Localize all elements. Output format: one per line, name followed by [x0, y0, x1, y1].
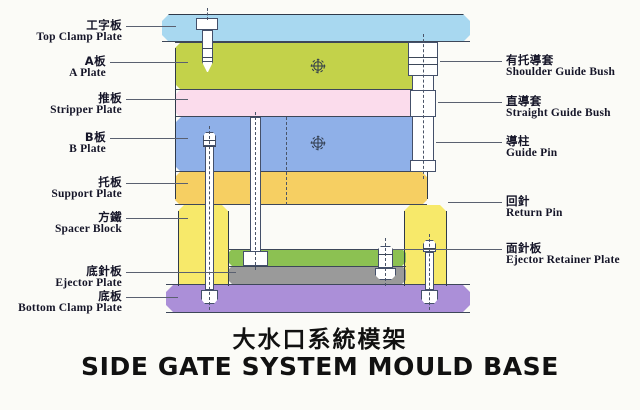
label-a-plate-cn: A板: [0, 56, 106, 68]
edge-spacer-left-outer: [178, 211, 179, 286]
edge-ejector-plate-bottom: [228, 284, 406, 285]
label-straight-guide-bush-en: Straight Guide Bush: [506, 108, 611, 120]
label-spacer-block-en: Spacer Block: [0, 224, 122, 236]
label-guide-pin-cn: 導柱: [506, 136, 557, 148]
leader-guide-pin: [436, 142, 502, 143]
leader-shoulder-guide-bush: [440, 61, 502, 62]
label-shoulder-guide-bush-cn: 有托導套: [506, 55, 615, 67]
part-stripper-plate: [175, 90, 427, 117]
leader-stripper-plate: [126, 99, 188, 100]
label-support-plate-en: Support Plate: [0, 189, 122, 201]
label-a-plate-en: A Plate: [0, 68, 106, 80]
label-stripper-plate-cn: 推板: [0, 93, 122, 105]
label-top-clamp-plate-cn: 工字板: [0, 20, 122, 32]
label-bottom-clamp-plate-en: Bottom Clamp Plate: [0, 303, 122, 315]
ejector-retainer-screw-seam: [378, 254, 393, 255]
return-pin-left-seam-2: [203, 146, 216, 147]
label-stripper-plate: 推板 Stripper Plate: [0, 93, 122, 116]
label-ejector-retainer-plate-cn: 面針板: [506, 243, 620, 255]
label-ejector-retainer-plate-en: Ejector Retainer Plate: [506, 255, 620, 267]
return-pin-left-centerline: [209, 126, 210, 310]
label-spacer-block: 方鐵 Spacer Block: [0, 212, 122, 235]
mould-base-diagram: 工字板 Top Clamp Plate A板 A Plate 推板 Stripp…: [0, 0, 640, 410]
leader-bottom-clamp-plate: [126, 297, 178, 298]
label-b-plate-cn: B板: [0, 132, 106, 144]
guide-pin-centerline: [423, 34, 424, 179]
return-pin-left-seam-1: [203, 140, 216, 141]
leader-a-plate: [110, 62, 188, 63]
label-shoulder-guide-bush: 有托導套 Shoulder Guide Bush: [506, 55, 615, 78]
top-screw-seam-2: [202, 57, 213, 58]
top-screw-centerline: [207, 8, 208, 20]
label-stripper-plate-en: Stripper Plate: [0, 105, 122, 117]
label-ejector-plate: 底針板 Ejector Plate: [0, 266, 122, 289]
label-support-plate: 托板 Support Plate: [0, 177, 122, 200]
leader-top-clamp-plate: [126, 26, 176, 27]
label-ejector-plate-en: Ejector Plate: [0, 278, 122, 290]
label-return-pin: 回針 Return Pin: [506, 196, 563, 219]
label-bottom-clamp-plate-cn: 底板: [0, 291, 122, 303]
return-pin-right-centerline: [429, 234, 430, 310]
label-return-pin-en: Return Pin: [506, 208, 563, 220]
label-straight-guide-bush: 直導套 Straight Guide Bush: [506, 96, 611, 119]
label-spacer-block-cn: 方鐵: [0, 212, 122, 224]
label-b-plate: B板 B Plate: [0, 132, 106, 155]
label-bottom-clamp-plate: 底板 Bottom Clamp Plate: [0, 291, 122, 314]
edge-bottom-clamp-bottom: [166, 312, 470, 313]
ejector-pin-centerline: [255, 112, 256, 270]
label-guide-pin-en: Guide Pin: [506, 148, 557, 160]
edge-stripper-bottom: [175, 116, 427, 117]
leader-straight-guide-bush: [438, 102, 502, 103]
label-straight-guide-bush-cn: 直導套: [506, 96, 611, 108]
leader-support-plate: [126, 183, 188, 184]
ejector-retainer-screw-centerline: [385, 238, 386, 286]
leader-b-plate: [110, 138, 188, 139]
label-b-plate-en: B Plate: [0, 144, 106, 156]
label-ejector-plate-cn: 底針板: [0, 266, 122, 278]
leader-return-pin: [448, 202, 502, 203]
label-top-clamp-plate: 工字板 Top Clamp Plate: [0, 20, 122, 43]
label-support-plate-cn: 托板: [0, 177, 122, 189]
label-ejector-retainer-plate: 面針板 Ejector Retainer Plate: [506, 243, 620, 266]
leader-ejector-plate: [126, 272, 236, 273]
label-return-pin-cn: 回針: [506, 196, 563, 208]
label-guide-pin: 導柱 Guide Pin: [506, 136, 557, 159]
leader-spacer-block: [126, 218, 188, 219]
top-screw-seam-1: [202, 48, 213, 49]
edge-a-plate-bottom: [175, 89, 427, 90]
center-target-icon-a-plate: [310, 58, 326, 74]
leader-ejector-retainer-plate: [392, 249, 502, 250]
title-english: SIDE GATE SYSTEM MOULD BASE: [0, 352, 640, 381]
reference-centerline-mid: [286, 117, 287, 205]
edge-left-stack: [175, 48, 176, 199]
label-a-plate: A板 A Plate: [0, 56, 106, 79]
center-target-icon-b-plate: [310, 135, 326, 151]
label-top-clamp-plate-en: Top Clamp Plate: [0, 32, 122, 44]
title-chinese: 大水口系統模架: [0, 320, 640, 354]
label-shoulder-guide-bush-en: Shoulder Guide Bush: [506, 67, 615, 79]
